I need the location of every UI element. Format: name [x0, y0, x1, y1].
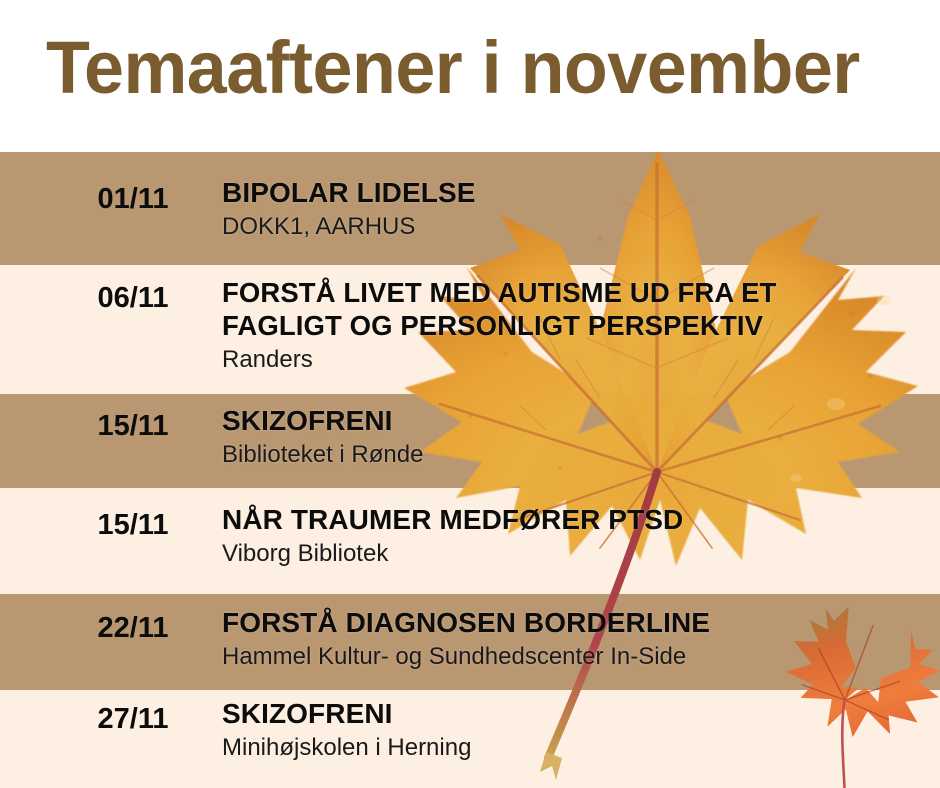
event-date: 22/11: [58, 611, 208, 645]
event-heading: FORSTÅ DIAGNOSEN BORDERLINE: [222, 606, 922, 639]
event-place: Biblioteket i Rønde: [222, 440, 922, 469]
poster-canvas: Temaaftener i november 01/11 BIPOLAR LID…: [0, 0, 940, 788]
event-heading: SKIZOFRENI: [222, 697, 922, 730]
event-place: DOKK1, AARHUS: [222, 212, 922, 241]
event-heading: BIPOLAR LIDELSE: [222, 176, 922, 209]
header-band: Temaaftener i november: [0, 0, 940, 152]
event-body: SKIZOFRENI Minihøjskolen i Herning: [222, 697, 922, 762]
event-body: SKIZOFRENI Biblioteket i Rønde: [222, 404, 922, 469]
event-place: Viborg Bibliotek: [222, 539, 922, 568]
event-date: 06/11: [58, 281, 208, 315]
event-body: FORSTÅ DIAGNOSEN BORDERLINE Hammel Kultu…: [222, 606, 922, 671]
event-place: Randers: [222, 345, 922, 374]
event-heading: FORSTÅ LIVET MED AUTISME UD FRA ET FAGLI…: [222, 276, 922, 342]
event-date: 15/11: [58, 508, 208, 542]
event-body: BIPOLAR LIDELSE DOKK1, AARHUS: [222, 176, 922, 241]
page-title: Temaaftener i november: [46, 28, 880, 108]
event-body: FORSTÅ LIVET MED AUTISME UD FRA ET FAGLI…: [222, 276, 922, 374]
event-place: Hammel Kultur- og Sundhedscenter In-Side: [222, 642, 922, 671]
event-date: 01/11: [58, 182, 208, 216]
event-heading: SKIZOFRENI: [222, 404, 922, 437]
event-date: 27/11: [58, 702, 208, 736]
event-heading: NÅR TRAUMER MEDFØRER PTSD: [222, 503, 922, 536]
event-place: Minihøjskolen i Herning: [222, 733, 922, 762]
event-date: 15/11: [58, 409, 208, 443]
event-body: NÅR TRAUMER MEDFØRER PTSD Viborg Bibliot…: [222, 503, 922, 568]
